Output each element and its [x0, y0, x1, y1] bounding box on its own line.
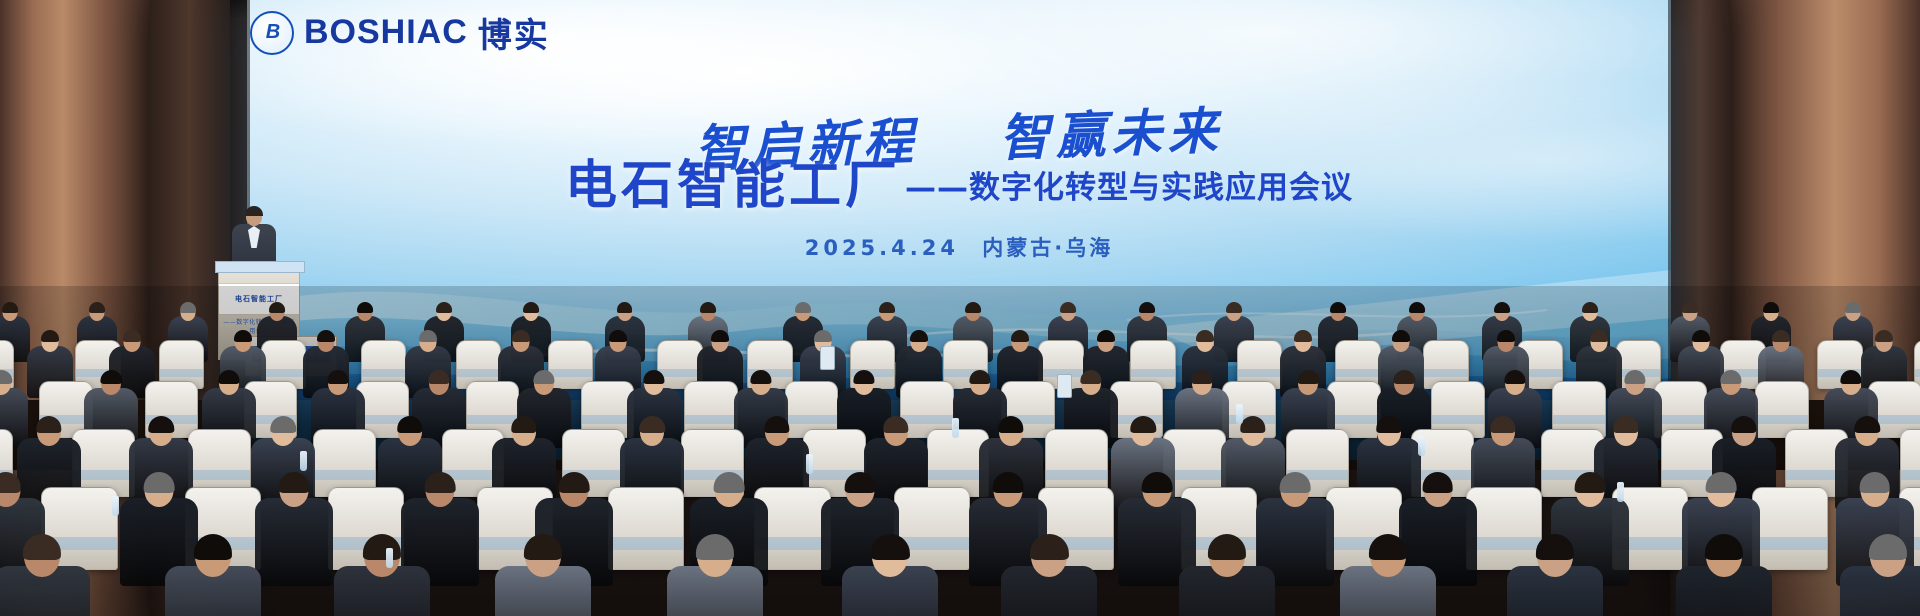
slide-date-row: 2025.4.24 内蒙古·乌海	[247, 232, 1671, 262]
brand-logo: B BOSHIAC 博实	[250, 8, 550, 57]
slide-place: 内蒙古·乌海	[982, 236, 1113, 260]
audience-person	[1676, 536, 1772, 616]
water-bottle	[386, 548, 393, 568]
audience-person	[495, 536, 591, 616]
logo-text-english: BOSHIAC	[304, 13, 468, 52]
audience-person	[0, 536, 90, 616]
audience-person	[165, 536, 261, 616]
audience-person	[1507, 536, 1603, 616]
audience-person	[842, 536, 938, 616]
lectern-top	[215, 261, 305, 273]
logo-text-chinese: 博实	[478, 8, 550, 57]
smartphone	[1057, 374, 1072, 398]
boshiac-emblem-icon: B	[250, 11, 294, 55]
audience-person	[1340, 536, 1436, 616]
slide-title-sub: ——数字化转型与实践应用会议	[905, 162, 1353, 212]
water-bottle	[1236, 404, 1243, 424]
water-bottle	[1418, 436, 1425, 456]
slide-date: 2025.4.24	[805, 236, 959, 260]
audience-person	[1179, 536, 1275, 616]
audience-person	[667, 536, 763, 616]
slide-title-row: 电石智能工厂 ——数字化转型与实践应用会议	[247, 160, 1671, 212]
audience-person	[255, 474, 333, 591]
audience-person	[1001, 536, 1097, 616]
conference-photo: 智启新程 智赢未来 电石智能工厂 ——数字化转型与实践应用会议 2025.4.2…	[0, 0, 1920, 616]
smartphone	[820, 346, 835, 370]
slide-title-main: 电石智能工厂	[565, 160, 901, 212]
audience-person	[334, 536, 430, 616]
water-bottle	[1617, 482, 1624, 502]
audience-person	[1840, 536, 1920, 616]
water-bottle	[300, 451, 307, 471]
water-bottle	[806, 454, 813, 474]
water-bottle	[952, 418, 959, 438]
calligraphy-right: 智赢未来	[999, 102, 1225, 168]
audience-area	[0, 286, 1920, 616]
water-bottle	[112, 496, 119, 516]
